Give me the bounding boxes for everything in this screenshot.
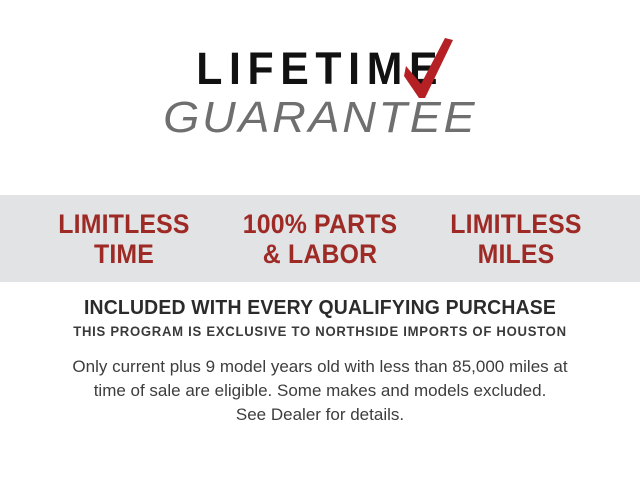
fineprint: Only current plus 9 model years old with… [0, 355, 640, 427]
feature-column-parts-labor: 100% PARTS & LABOR [230, 209, 410, 269]
lifetime-guarantee-ad: LIFETIME GUARANTEE LIMITLESS TIME 100% P… [0, 0, 640, 480]
fineprint-line: See Dealer for details. [0, 403, 640, 427]
feature-line-2: TIME [34, 239, 214, 269]
wordmark-guarantee: GUARANTEE [163, 94, 477, 142]
feature-line-2: MILES [426, 239, 606, 269]
feature-line-1: LIMITLESS [450, 209, 581, 239]
subheadline: THIS PROGRAM IS EXCLUSIVE TO NORTHSIDE I… [10, 322, 631, 341]
wordmark: LIFETIME GUARANTEE [172, 46, 468, 142]
wordmark-lifetime: LIFETIME [179, 46, 461, 92]
feature-band: LIMITLESS TIME 100% PARTS & LABOR LIMITL… [0, 195, 640, 282]
feature-line-2: & LABOR [230, 239, 410, 269]
headline: INCLUDED WITH EVERY QUALIFYING PURCHASE [10, 296, 631, 320]
lower-text-block: INCLUDED WITH EVERY QUALIFYING PURCHASE … [0, 296, 640, 427]
feature-column-limitless-miles: LIMITLESS MILES [426, 209, 606, 269]
logo-block: LIFETIME GUARANTEE [0, 46, 640, 142]
fineprint-line: time of sale are eligible. Some makes an… [0, 379, 640, 403]
feature-line-1: LIMITLESS [58, 209, 189, 239]
feature-column-limitless-time: LIMITLESS TIME [34, 209, 214, 269]
feature-line-1: 100% PARTS [243, 209, 398, 239]
fineprint-line: Only current plus 9 model years old with… [0, 355, 640, 379]
